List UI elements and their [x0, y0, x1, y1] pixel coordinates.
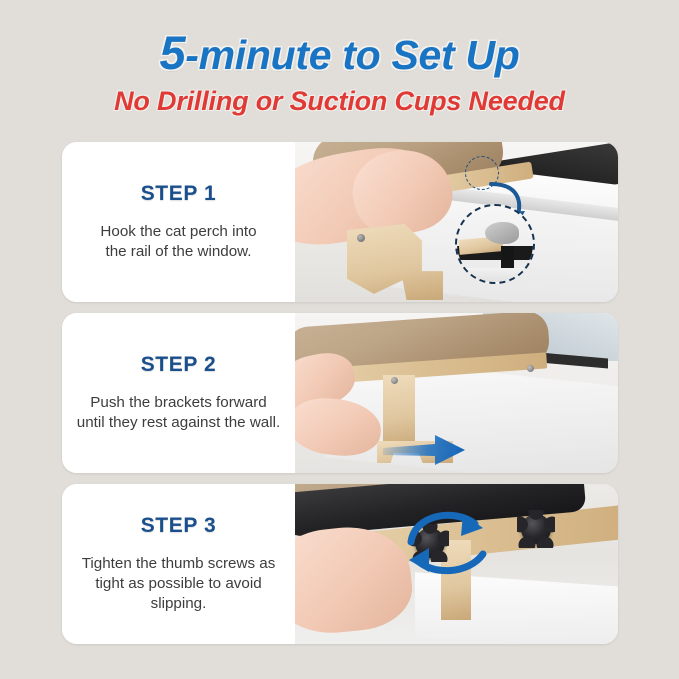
step-3-description-line-1: Tighten the thumb screws as — [82, 554, 276, 574]
arrow-right-icon — [383, 431, 469, 471]
step-1-photo — [295, 142, 618, 302]
step-1-description: Hook the cat perch into the rail of the … — [100, 222, 256, 262]
rotation-arrows-icon — [399, 502, 509, 582]
step-2-label: STEP 2 — [141, 353, 217, 377]
title-rest: -minute to Set Up — [185, 32, 519, 78]
page-subtitle: No Drilling or Suction Cups Needed — [0, 86, 679, 117]
bracket-screw-right — [527, 365, 534, 372]
step-card-2: STEP 2 Push the brackets forward until t… — [62, 313, 618, 473]
step-3-text: STEP 3 Tighten the thumb screws as tight… — [62, 484, 295, 644]
step-3-description-line-2: tight as possible to avoid — [82, 574, 276, 594]
thumb-screw-knob-right — [521, 514, 551, 544]
step-1-label: STEP 1 — [141, 182, 217, 206]
page-title: 5-minute to Set Up — [0, 28, 679, 77]
step-3-label: STEP 3 — [141, 514, 217, 538]
step-card-1: STEP 1 Hook the cat perch into the rail … — [62, 142, 618, 302]
step-3-photo — [295, 484, 618, 644]
step-2-photo — [295, 313, 618, 473]
title-lead-number: 5 — [159, 26, 185, 79]
step-2-description: Push the brackets forward until they res… — [77, 393, 280, 433]
detail-sill — [457, 268, 535, 284]
detail-grey-pad — [485, 222, 519, 244]
step-3-description-line-3: slipping. — [82, 594, 276, 614]
bracket-screw-upper — [391, 377, 398, 384]
step-2-description-line-2: until they rest against the wall. — [77, 413, 280, 433]
step-card-3: STEP 3 Tighten the thumb screws as tight… — [62, 484, 618, 644]
magnified-detail-circle — [455, 204, 535, 284]
step-2-description-line-1: Push the brackets forward — [77, 393, 280, 413]
step-1-description-line-1: Hook the cat perch into — [100, 222, 256, 242]
bracket-screw — [357, 234, 365, 242]
header: 5-minute to Set Up No Drilling or Suctio… — [0, 0, 679, 117]
step-1-text: STEP 1 Hook the cat perch into the rail … — [62, 142, 295, 302]
step-2-text: STEP 2 Push the brackets forward until t… — [62, 313, 295, 473]
step-3-description: Tighten the thumb screws as tight as pos… — [82, 554, 276, 615]
step-1-description-line-2: the rail of the window. — [100, 242, 256, 262]
steps-list: STEP 1 Hook the cat perch into the rail … — [62, 142, 618, 655]
